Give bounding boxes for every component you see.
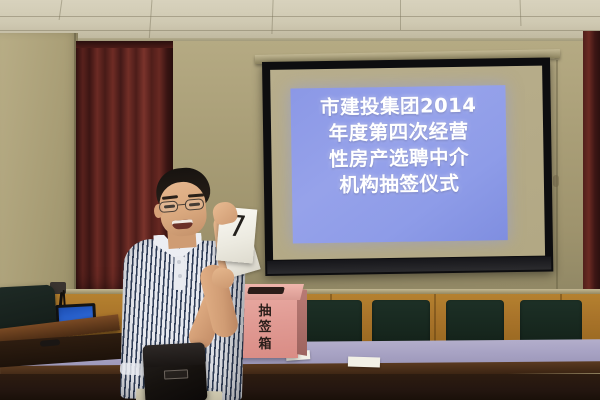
ceiling-tile-grid	[0, 0, 600, 42]
left-wall	[0, 33, 78, 303]
table-front-panel	[0, 374, 600, 400]
glasses-lens-right	[185, 198, 205, 211]
glasses-lens-left	[159, 200, 179, 213]
paper-sheet	[348, 356, 380, 367]
bag-flap	[143, 342, 206, 367]
bag-logo	[164, 369, 188, 379]
presenter: 7	[100, 168, 260, 400]
slide-line-1: 市建投集团2014	[291, 92, 506, 121]
shirt-button	[177, 260, 181, 264]
projection-screen: 市建投集团2014 年度第四次经营 性房产选聘中介 机构抽签仪式	[262, 57, 553, 275]
curtain-rail-left	[76, 41, 173, 48]
projected-slide: 市建投集团2014 年度第四次经营 性房产选聘中介 机构抽签仪式	[290, 85, 507, 243]
maroon-curtain-right	[583, 31, 600, 299]
ceiling	[0, 0, 600, 42]
shirt-button	[178, 274, 182, 278]
slide-line-3: 性房产选聘中介	[291, 144, 506, 173]
slide-line-2: 年度第四次经营	[291, 118, 506, 147]
projection-screen-surface: 市建投集团2014 年度第四次经营 性房产选聘中介 机构抽签仪式	[270, 66, 545, 260]
photo-scene: 市建投集团2014 年度第四次经营 性房产选聘中介 机构抽签仪式 抽	[0, 0, 600, 400]
slide-line-4: 机构抽签仪式	[292, 170, 507, 199]
slide-text-block: 市建投集团2014 年度第四次经营 性房产选聘中介 机构抽签仪式	[291, 92, 508, 199]
wall-mark	[553, 175, 559, 187]
shoulder-bag	[143, 342, 208, 400]
